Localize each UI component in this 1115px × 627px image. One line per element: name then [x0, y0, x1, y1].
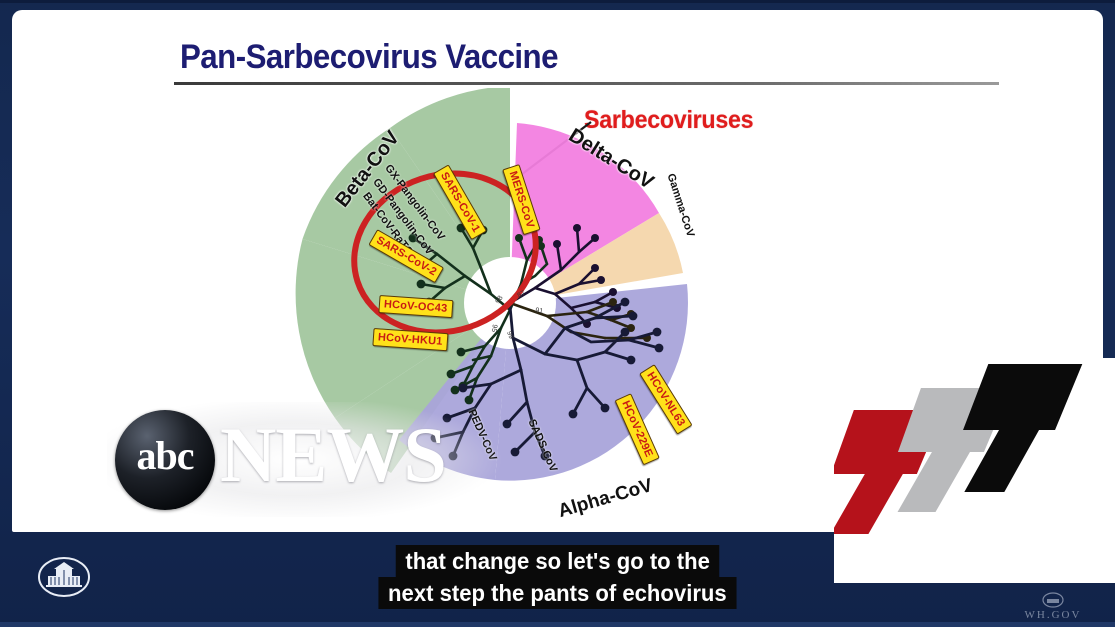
ttt-letter-black [954, 364, 1082, 492]
svg-text:91: 91 [535, 307, 544, 315]
abc-news-watermark: abc NEWS [107, 402, 552, 517]
news-wordmark: NEWS [220, 416, 446, 494]
video-frame: Pan-Sarbecovirus Vaccine Sarbecoviruses [0, 0, 1115, 627]
white-house-seal [36, 555, 92, 599]
frame-bottom-edge [0, 622, 1115, 627]
title-underline [174, 82, 999, 85]
slide-title: Pan-Sarbecovirus Vaccine [180, 38, 558, 77]
wh-gov-seal-icon [1042, 592, 1064, 608]
frame-top-edge [0, 0, 1115, 3]
ttt-logo-overlay [834, 358, 1115, 583]
abc-logo-text: abc [121, 436, 209, 476]
wh-gov-label: WH.GOV [1005, 609, 1101, 621]
svg-text:95: 95 [490, 324, 498, 333]
wh-gov-badge: WH.GOV [1005, 592, 1101, 621]
